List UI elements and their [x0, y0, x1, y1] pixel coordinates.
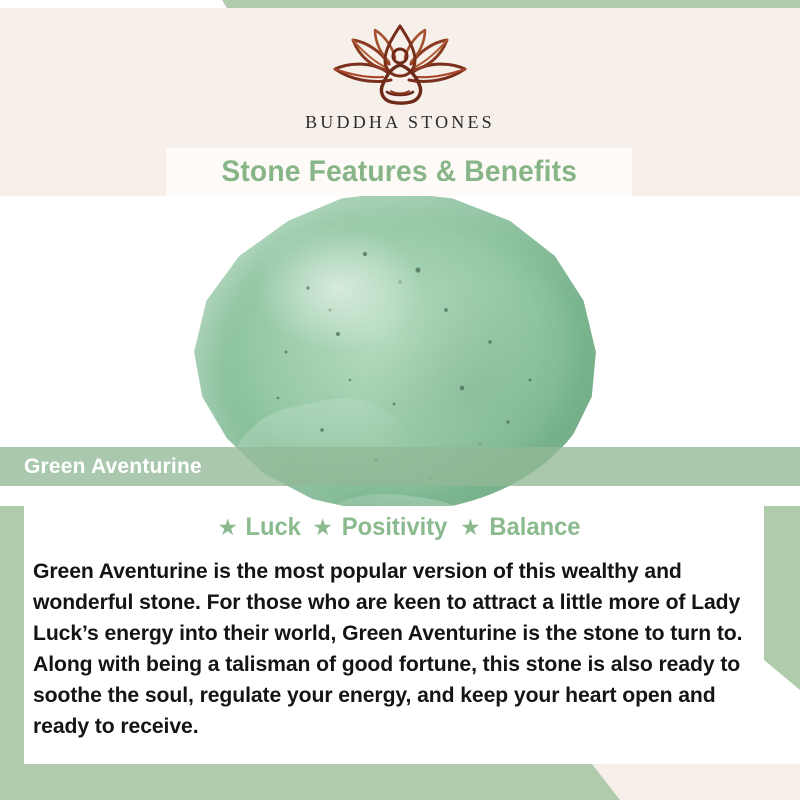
- benefit-item-luck: ★ Luck: [217, 513, 302, 542]
- benefit-label: Positivity: [342, 513, 448, 542]
- header: BUDDHA STONES Stone Features & Benefits: [0, 8, 800, 196]
- infographic-page: BUDDHA STONES Stone Features & Benefits: [0, 0, 800, 800]
- stone-name-bar: Green Aventurine: [0, 447, 800, 486]
- brand-name: BUDDHA STONES: [0, 112, 800, 133]
- page-title: Stone Features & Benefits: [221, 155, 577, 189]
- title-banner: Stone Features & Benefits: [166, 148, 632, 196]
- star-icon: ★: [312, 516, 333, 539]
- lotus-meditation-icon: [325, 22, 475, 108]
- star-icon: ★: [217, 516, 238, 539]
- benefits-list: ★ Luck ★ Positivity ★ Balance: [0, 506, 800, 548]
- stone-description: Green Aventurine is the most popular ver…: [33, 556, 759, 742]
- content-section: ★ Luck ★ Positivity ★ Balance Green Aven…: [0, 506, 800, 742]
- benefit-label: Balance: [489, 513, 580, 542]
- benefit-item-balance: ★ Balance: [460, 513, 583, 542]
- benefit-item-positivity: ★ Positivity: [312, 513, 450, 542]
- stone-name-label: Green Aventurine: [24, 455, 202, 479]
- star-icon: ★: [460, 516, 481, 539]
- benefit-label: Luck: [245, 513, 300, 542]
- brand-logo: BUDDHA STONES: [0, 22, 800, 133]
